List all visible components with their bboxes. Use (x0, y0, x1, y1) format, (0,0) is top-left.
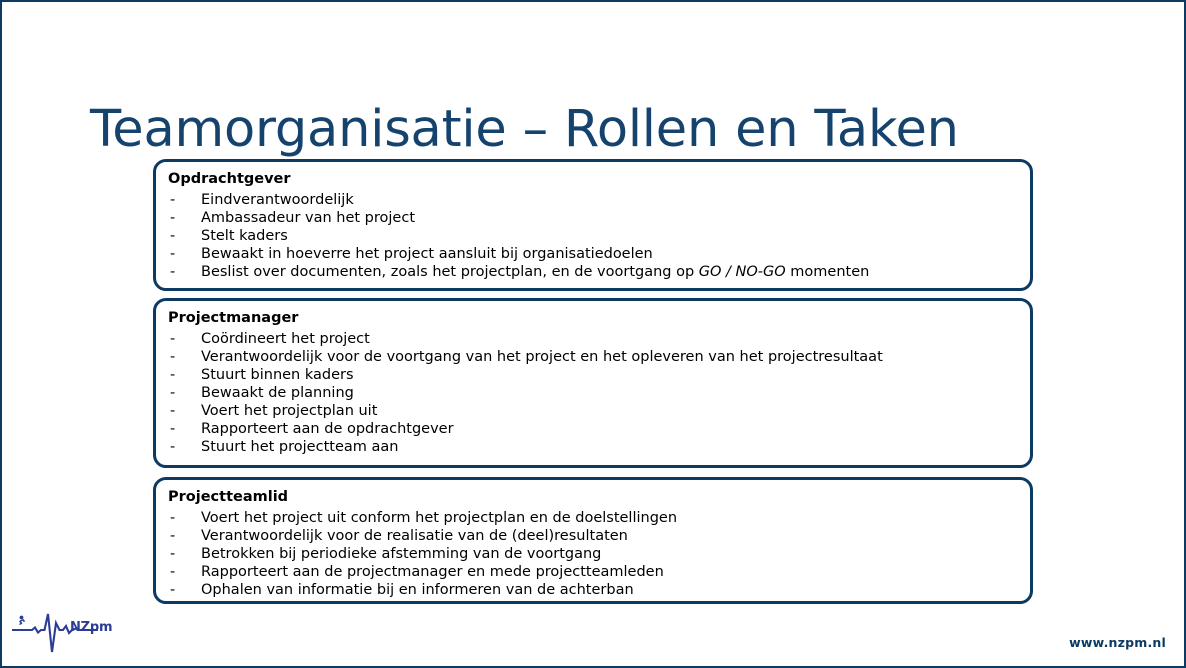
role-task-item: -Bewaakt de planning (168, 384, 1024, 402)
role-task-item: -Rapporteert aan de opdrachtgever (168, 420, 1024, 438)
role-task-item: -Voert het projectplan uit (168, 402, 1024, 420)
role-task-list: -Voert het project uit conform het proje… (168, 509, 1024, 599)
bullet-dash-marker: - (170, 563, 180, 581)
bullet-dash-marker: - (170, 509, 180, 527)
role-box-projectmanager: Projectmanager -Coördineert het project-… (153, 298, 1033, 468)
bullet-dash-marker: - (170, 263, 180, 281)
bullet-dash-marker: - (170, 209, 180, 227)
role-task-item: -Coördineert het project (168, 330, 1024, 348)
role-task-text: Stuurt binnen kaders (201, 367, 354, 383)
role-task-item: -Verantwoordelijk voor de voortgang van … (168, 348, 1024, 366)
role-heading: Projectteamlid (168, 489, 288, 506)
role-task-text: Voert het project uit conform het projec… (201, 510, 677, 526)
role-task-text: Ophalen van informatie bij en informeren… (201, 582, 634, 598)
bullet-dash-marker: - (170, 420, 180, 438)
logo-wordmark: NZpm (70, 620, 112, 635)
role-task-text: Bewaakt in hoeverre het project aansluit… (201, 246, 653, 262)
role-task-item: -Eindverantwoordelijk (168, 191, 1024, 209)
role-task-text: Betrokken bij periodieke afstemming van … (201, 546, 601, 562)
bullet-dash-marker: - (170, 191, 180, 209)
bullet-dash-marker: - (170, 438, 180, 456)
role-task-text: Verantwoordelijk voor de voortgang van h… (201, 349, 883, 365)
slide: Teamorganisatie – Rollen en Taken Opdrac… (0, 0, 1186, 668)
nzpm-logo: NZpm (10, 606, 122, 658)
bullet-dash-marker: - (170, 402, 180, 420)
role-task-list: -Coördineert het project-Verantwoordelij… (168, 330, 1024, 456)
role-task-item: -Betrokken bij periodieke afstemming van… (168, 545, 1024, 563)
role-task-item: -Bewaakt in hoeverre het project aanslui… (168, 245, 1024, 263)
role-task-text: Ambassadeur van het project (201, 210, 415, 226)
page-title: Teamorganisatie – Rollen en Taken (90, 102, 959, 158)
bullet-dash-marker: - (170, 330, 180, 348)
role-task-text: Eindverantwoordelijk (201, 192, 354, 208)
role-task-item: -Ophalen van informatie bij en informere… (168, 581, 1024, 599)
bullet-dash-marker: - (170, 581, 180, 599)
role-task-item: -Rapporteert aan de projectmanager en me… (168, 563, 1024, 581)
role-task-list: -Eindverantwoordelijk-Ambassadeur van he… (168, 191, 1024, 281)
role-task-item: -Stuurt binnen kaders (168, 366, 1024, 384)
role-task-text: Rapporteert aan de projectmanager en med… (201, 564, 664, 580)
role-task-text: Stuurt het projectteam aan (201, 439, 398, 455)
bullet-dash-marker: - (170, 527, 180, 545)
role-task-text: Rapporteert aan de opdrachtgever (201, 421, 454, 437)
bullet-dash-marker: - (170, 348, 180, 366)
role-task-item: -Ambassadeur van het project (168, 209, 1024, 227)
role-task-item: -Voert het project uit conform het proje… (168, 509, 1024, 527)
role-box-opdrachtgever: Opdrachtgever -Eindverantwoordelijk-Amba… (153, 159, 1033, 291)
role-task-text: Stelt kaders (201, 228, 288, 244)
role-task-item: -Stelt kaders (168, 227, 1024, 245)
bullet-dash-marker: - (170, 545, 180, 563)
bullet-dash-marker: - (170, 245, 180, 263)
role-box-projectteamlid: Projectteamlid -Voert het project uit co… (153, 477, 1033, 604)
bullet-dash-marker: - (170, 227, 180, 245)
role-task-text: Bewaakt de planning (201, 385, 354, 401)
role-heading: Projectmanager (168, 310, 298, 327)
role-task-item: -Verantwoordelijk voor de realisatie van… (168, 527, 1024, 545)
bullet-dash-marker: - (170, 366, 180, 384)
role-task-item: -Stuurt het projectteam aan (168, 438, 1024, 456)
role-task-text: Coördineert het project (201, 331, 370, 347)
emphasised-term: GO / NO-GO (699, 264, 786, 280)
role-task-text: Beslist over documenten, zoals het proje… (201, 264, 869, 280)
role-task-text: Voert het projectplan uit (201, 403, 377, 419)
role-task-item: -Beslist over documenten, zoals het proj… (168, 263, 1024, 281)
runner-figure-icon (19, 616, 25, 625)
role-heading: Opdrachtgever (168, 171, 291, 188)
footer-website-url: www.nzpm.nl (1069, 635, 1166, 650)
bullet-dash-marker: - (170, 384, 180, 402)
role-task-text: Verantwoordelijk voor de realisatie van … (201, 528, 628, 544)
